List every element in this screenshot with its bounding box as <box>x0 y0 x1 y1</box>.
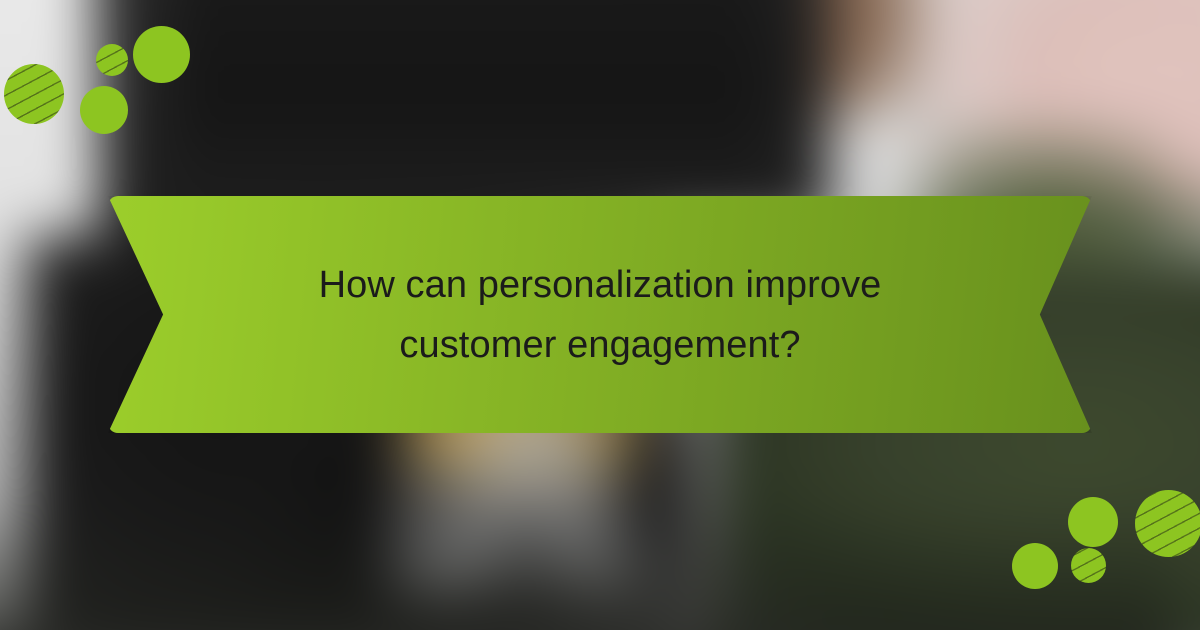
dot-striped-small <box>1071 548 1106 583</box>
dot-striped-small <box>96 44 128 76</box>
bg-bottom-vignette <box>0 500 1172 630</box>
dot-striped-large <box>1135 490 1200 557</box>
quote-card: How can personalization improve customer… <box>0 0 1200 630</box>
dot-plain-small <box>1012 543 1058 589</box>
dot-plain-medium <box>1068 497 1118 547</box>
question-line-1: How can personalization improve <box>319 258 882 312</box>
question-line-2: customer engagement? <box>399 318 800 372</box>
bg-laptop-screen <box>171 0 765 204</box>
dot-striped-large <box>4 64 64 124</box>
dot-plain-large <box>133 26 190 83</box>
question-banner: How can personalization improve customer… <box>108 196 1092 433</box>
dot-plain-medium <box>80 86 128 134</box>
banner-text-block: How can personalization improve customer… <box>108 196 1092 433</box>
